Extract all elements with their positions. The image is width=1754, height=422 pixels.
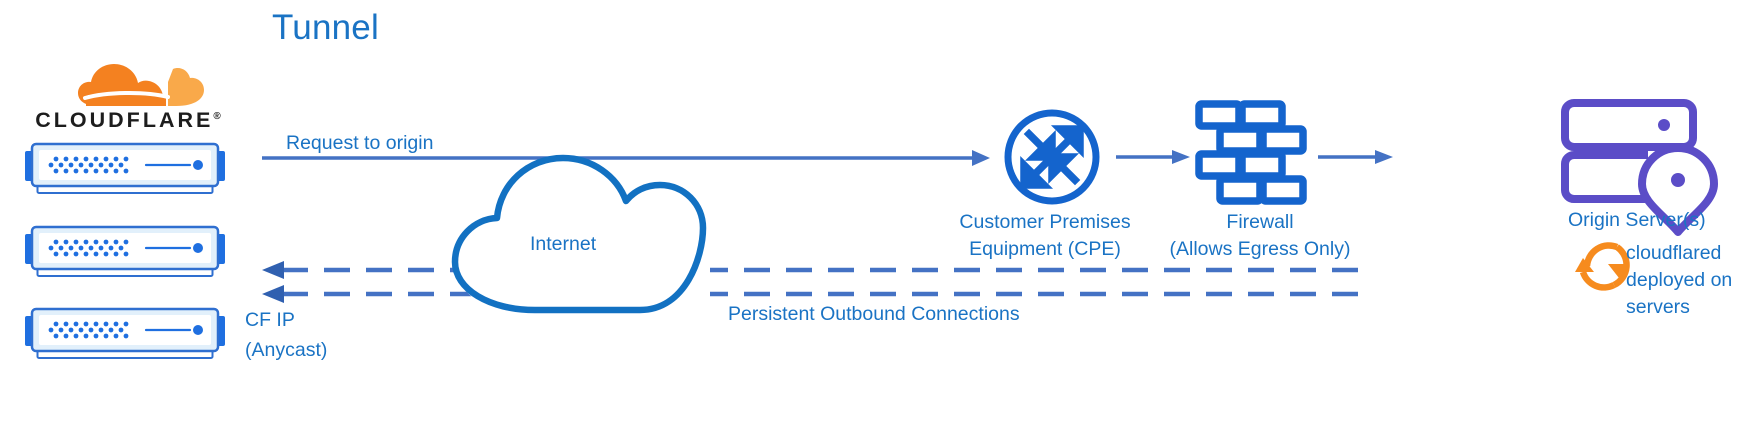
tunnel-diagram: Tunnel CLOUDFLARE® [0,0,1754,422]
connector-cf-ip-dashed [262,261,1360,279]
sync-arrows-icon [1575,245,1627,287]
origin-server-label: Origin Server(s) [1568,208,1706,233]
connector-persistent-outbound-dashed [262,285,1360,303]
cf-ip-label-line1: CF IP [245,305,435,335]
cloudflared-label-line1: cloudflared [1626,240,1754,267]
firewall-label: Firewall [1155,209,1365,236]
cpe-label: Customer Premises Equipment (CPE) [925,209,1165,263]
connector-cpe-to-firewall [1116,150,1190,164]
cpe-label-line1: Customer Premises [925,209,1165,236]
persistent-outbound-connections-label: Persistent Outbound Connections [728,302,1020,327]
cloudflared-label-line2: deployed on [1626,267,1754,294]
connector-firewall-to-origin [1318,150,1393,164]
cpe-label-line2: Equipment (CPE) [925,236,1165,263]
cloudflared-label-line3: servers [1626,294,1754,321]
cf-ip-label: CF IP (Anycast) [245,305,435,365]
request-to-origin-label: Request to origin [286,131,433,156]
cf-ip-label-line2: (Anycast) [245,335,435,365]
brick-wall-icon [1199,104,1303,201]
firewall-sublabel: (Allows Egress Only) [1155,236,1365,263]
four-arrows-in-circle-icon [1008,113,1096,201]
internet-label: Internet [530,232,596,257]
cloudflared-label: cloudflared deployed on servers [1626,240,1754,321]
